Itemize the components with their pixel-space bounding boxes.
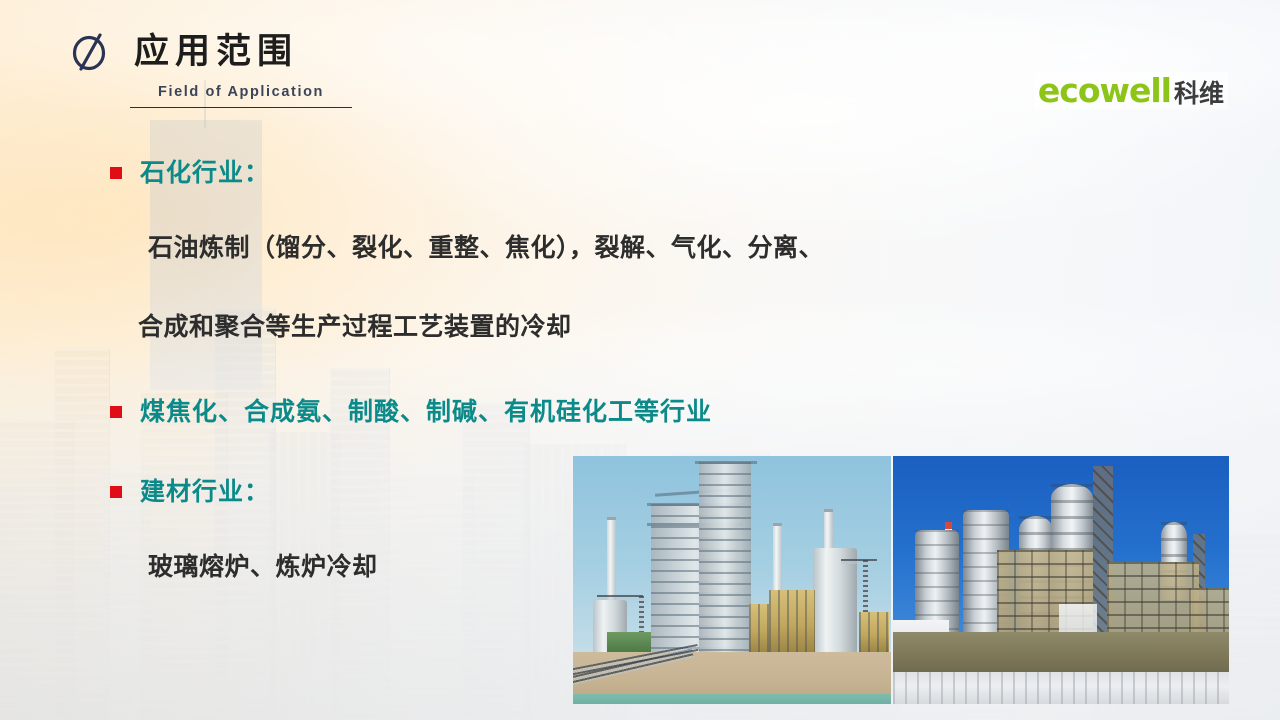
body-line-1: 石油炼制（馏分、裂化、重整、焦化），裂解、气化、分离、	[148, 234, 824, 262]
slide-canvas: 应用范围 Field of Application ecowell 科维 石化行…	[0, 0, 1280, 720]
bullet-item-building-materials: 建材行业：	[110, 478, 270, 506]
bullet-heading: 石化行业：	[140, 159, 270, 187]
photo-strip	[573, 456, 1229, 704]
square-bullet-icon	[110, 406, 122, 418]
body-line-3: 玻璃熔炉、炼炉冷却	[148, 553, 378, 581]
bullet-heading: 建材行业：	[140, 478, 270, 506]
petrochemical-refinery-photo	[573, 456, 891, 704]
body-line-2: 合成和聚合等生产过程工艺装置的冷却	[138, 313, 572, 341]
bullet-item-coking-chemical: 煤焦化、合成氨、制酸、制碱、有机硅化工等行业	[110, 398, 712, 426]
square-bullet-icon	[110, 167, 122, 179]
cement-plant-photo	[893, 456, 1229, 704]
bullet-item-petrochemical: 石化行业：	[110, 159, 270, 187]
bullet-heading: 煤焦化、合成氨、制酸、制碱、有机硅化工等行业	[140, 398, 712, 426]
square-bullet-icon	[110, 486, 122, 498]
